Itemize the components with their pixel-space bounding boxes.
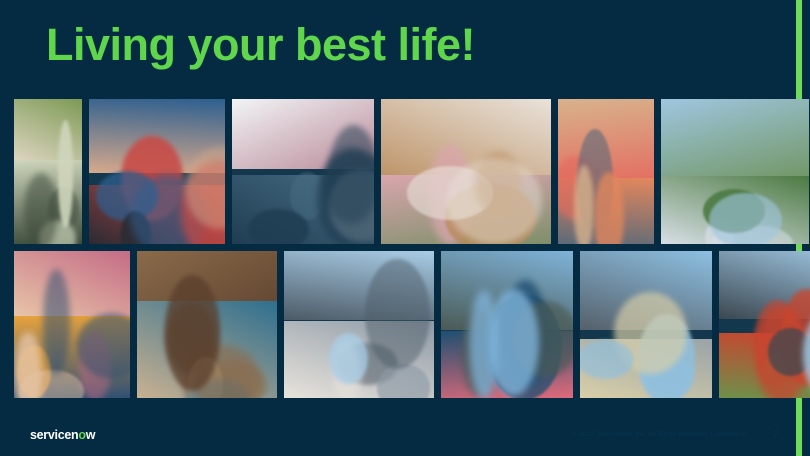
photo-subject-shape: [43, 269, 70, 375]
gallery-photo: [137, 251, 277, 398]
servicenow-logo: servicenow: [30, 428, 95, 442]
gallery-photo: [14, 99, 82, 244]
photo-subject-shape: [248, 209, 309, 244]
gallery-photo: [441, 251, 573, 398]
photo-subject-shape: [447, 158, 541, 244]
photo-subject-shape: [574, 165, 594, 244]
photo-subject-shape: [709, 193, 781, 244]
gallery-photo: [580, 251, 712, 398]
photo-subject-shape: [14, 332, 41, 398]
photo-subject-shape: [488, 289, 539, 395]
page-title: Living your best life!: [46, 20, 475, 70]
gallery-photo: [14, 251, 130, 398]
photo-subject-shape: [365, 259, 430, 369]
photo-row-top: [14, 99, 809, 244]
gallery-photo: [381, 99, 551, 244]
gallery-photo: [89, 99, 225, 244]
photo-subject-shape: [58, 120, 73, 229]
gallery-photo: [232, 99, 374, 244]
logo-text-right: w: [86, 428, 95, 442]
photo-row-bottom: [14, 251, 810, 398]
gallery-photo: [558, 99, 654, 244]
copyright-notice: © 2022 ServiceNow, Inc. All Rights Reser…: [573, 431, 748, 438]
logo-text-left: servicen: [30, 428, 78, 442]
logo-accent-o: o: [78, 428, 85, 442]
gallery-photo: [661, 99, 809, 244]
photo-subject-shape: [580, 340, 634, 379]
gallery-photo: [719, 251, 810, 398]
page-number: 7: [774, 430, 778, 439]
photo-backdrop: [14, 251, 130, 318]
photo-subject-shape: [165, 275, 219, 391]
gallery-photo: [284, 251, 434, 398]
presentation-slide: Living your best life! servicenow © 2022…: [0, 0, 810, 456]
